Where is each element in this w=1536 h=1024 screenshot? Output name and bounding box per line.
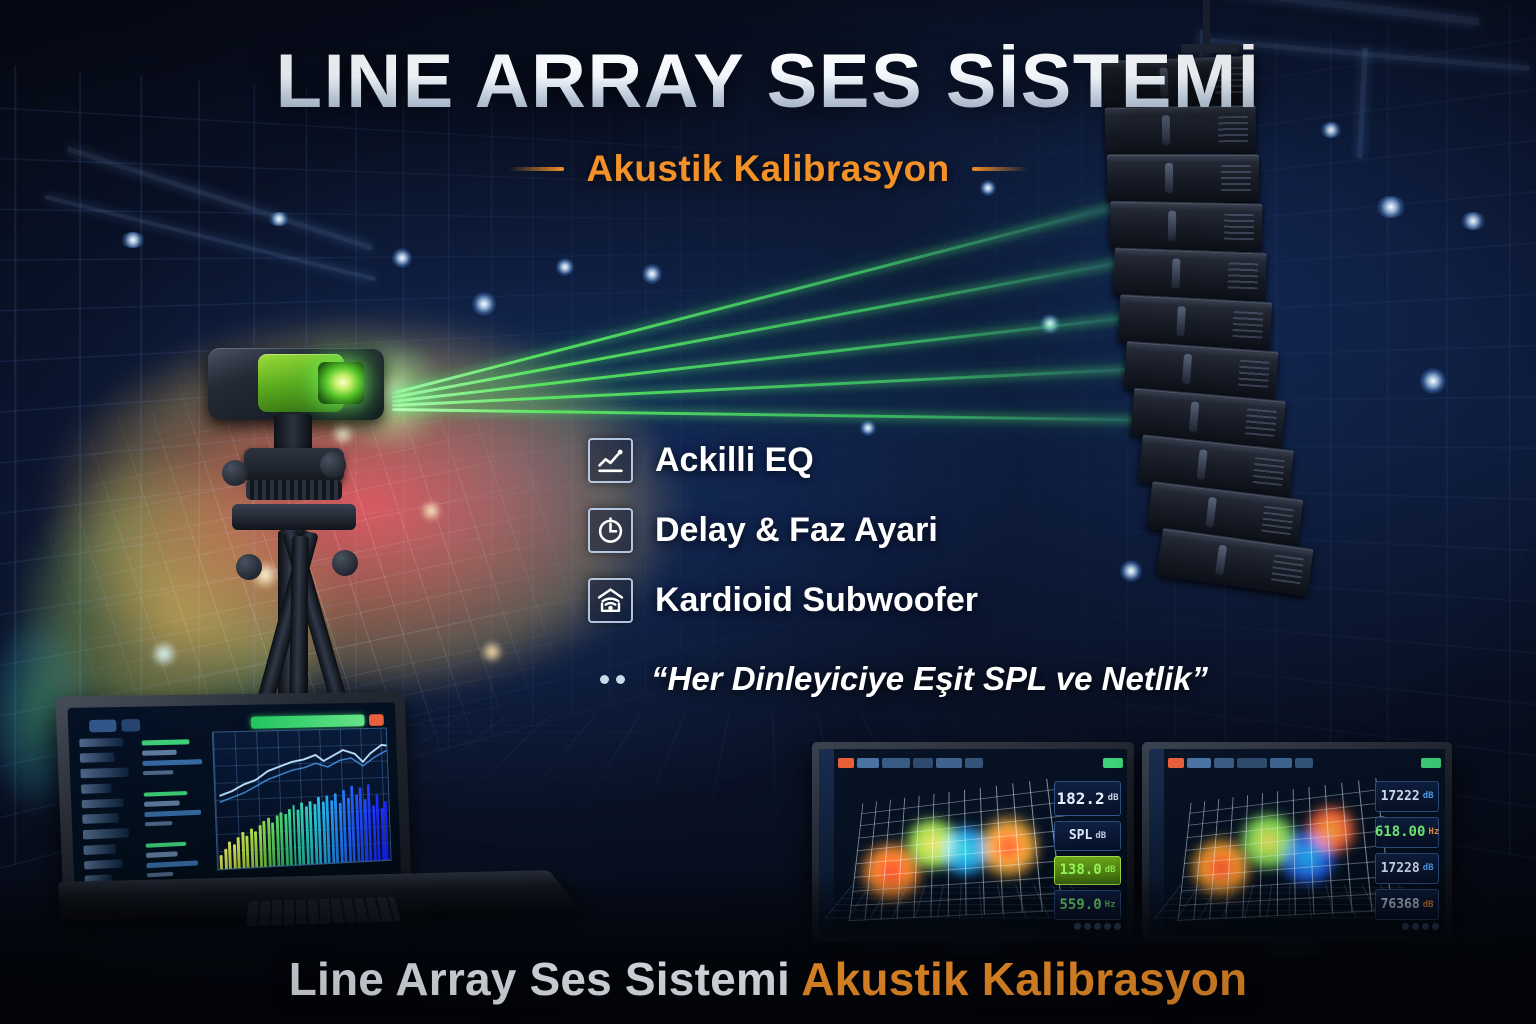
tripod-knob	[222, 460, 248, 486]
tagline-quote: “Her Dinleyiciye Eşit SPL ve Netlik”	[651, 660, 1208, 698]
monitor-toolbar	[834, 755, 1127, 772]
tripod-collar	[246, 480, 342, 500]
screen-parameter-text	[142, 739, 214, 878]
venue-light	[268, 212, 290, 226]
venue-light	[1376, 196, 1406, 218]
feature-item-cardioid-sub[interactable]: Kardioid Subwoofer	[588, 578, 978, 623]
feature-label: Delay & Faz Ayari	[655, 511, 938, 550]
tripod-leg-lock	[236, 554, 262, 580]
page-title: LINE ARRAY SES SİSTEMİ	[0, 44, 1536, 120]
laptop-screen[interactable]	[67, 702, 401, 901]
footer-caption-orange: Akustik Kalibrasyon	[801, 953, 1247, 1005]
screen-left-readouts	[79, 737, 140, 885]
decorative-dash-left	[508, 167, 564, 171]
readout-value-1: 17222dB	[1375, 781, 1440, 812]
speaker-cabinet	[1113, 247, 1267, 300]
readout-spl-label: SPLdB	[1054, 821, 1121, 851]
chart-trending-up-icon	[588, 438, 633, 483]
tripod-leg-lock	[332, 550, 358, 576]
footer-caption: Line Array Ses Sistemi Akustik Kalibrasy…	[0, 952, 1536, 1006]
feature-label: Ackilli EQ	[655, 441, 814, 480]
quote-row: “Her Dinleyiciye Eşit SPL ve Netlik”	[600, 660, 1208, 698]
readout-spl-peak: 182.2dB	[1054, 781, 1121, 816]
quote-dots-icon	[600, 675, 625, 684]
cardioid-wifi-home-icon	[588, 578, 633, 623]
laser-emitter-lens	[318, 362, 364, 404]
venue-light	[392, 248, 412, 268]
record-badge	[369, 714, 384, 726]
bokeh-light	[480, 640, 504, 664]
spectrum-plot	[212, 728, 391, 870]
decorative-dash-right	[972, 167, 1028, 171]
footer-caption-white: Line Array Ses Sistemi	[289, 953, 790, 1005]
venue-light	[1460, 212, 1486, 230]
promo-banner: LINE ARRAY SES SİSTEMİ Akustik Kalibrasy…	[0, 0, 1536, 1024]
tripod-base-collar	[232, 504, 356, 530]
feature-item-delay-phase[interactable]: Delay & Faz Ayari	[588, 508, 978, 553]
feature-list: Ackilli EQ Delay & Faz Ayari	[588, 438, 978, 623]
monitor-toolbar	[1164, 755, 1445, 772]
speaker-cabinet	[1110, 201, 1263, 252]
clock-icon	[588, 508, 633, 553]
tripod-knob	[320, 452, 346, 478]
venue-light	[120, 232, 146, 248]
feature-item-eq[interactable]: Ackilli EQ	[588, 438, 978, 483]
bokeh-light	[420, 500, 442, 522]
progress-bar	[250, 714, 364, 728]
readout-value-2: 618.00Hz	[1375, 817, 1440, 848]
subtitle-row: Akustik Kalibrasyon	[0, 148, 1536, 190]
spectrum-bars	[215, 778, 390, 869]
venue-light	[860, 420, 876, 436]
heat-blob	[976, 812, 1041, 882]
page-subtitle: Akustik Kalibrasyon	[586, 148, 949, 190]
feature-label: Kardioid Subwoofer	[655, 581, 978, 620]
venue-light	[1420, 368, 1446, 394]
